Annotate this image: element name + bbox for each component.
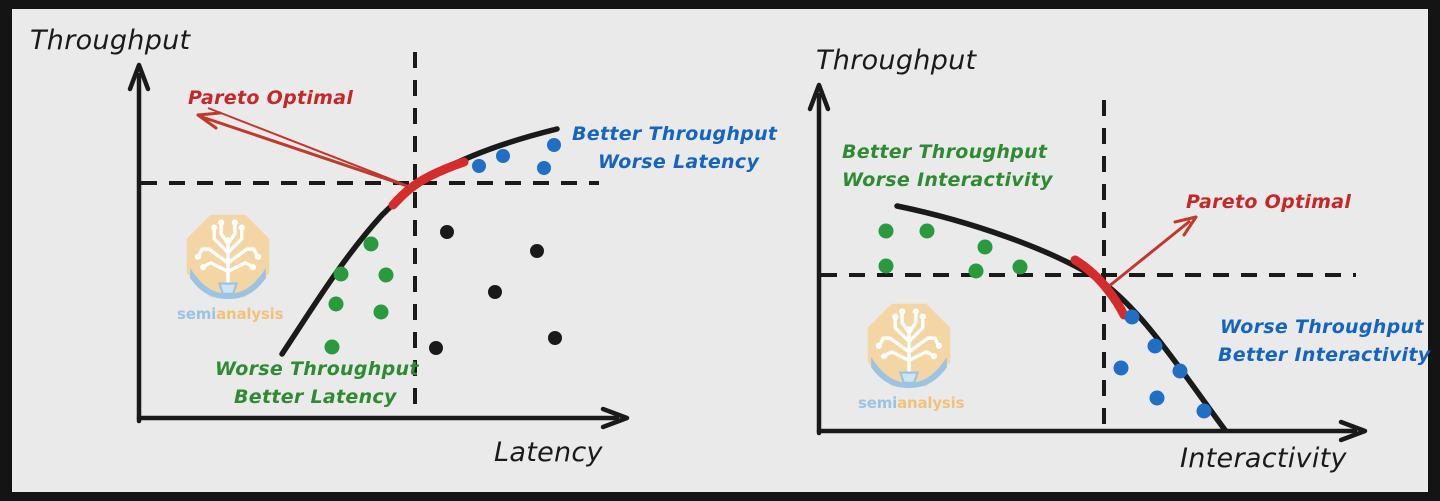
chart-svg-latency (12, 9, 720, 492)
data-point (547, 138, 561, 152)
logo-word-semi: semi (177, 305, 216, 323)
pareto-optimal-segment-interactivity (1075, 260, 1124, 315)
data-point (879, 224, 894, 239)
chart-panel-interactivity: Throughput Interactivity Pareto Optimal … (720, 9, 1428, 492)
data-point (1125, 310, 1140, 325)
data-point (496, 149, 510, 163)
annotation-better-throughput-worse-interactivity-line2: Worse Interactivity (842, 169, 1053, 191)
data-point (969, 264, 984, 279)
x-axis-label-interactivity: Interactivity (1180, 443, 1347, 475)
semianalysis-logo-left: semianalysis (177, 213, 281, 325)
data-point (879, 259, 894, 274)
data-point (379, 268, 394, 283)
y-axis-latency-chart (130, 65, 148, 421)
figure-canvas: Throughput Latency Pareto Optimal Better… (12, 9, 1428, 492)
semianalysis-logo-mark (866, 302, 952, 388)
y-axis-label-throughput-right: Throughput (816, 45, 976, 77)
annotation-worse-throughput-better-interactivity-line1: Worse Throughput (1220, 316, 1424, 338)
data-point (334, 267, 349, 282)
data-point (920, 224, 935, 239)
annotation-worse-throughput-better-interactivity-line2: Better Interactivity (1218, 344, 1430, 366)
logo-word-analysis: analysis (897, 394, 964, 412)
semianalysis-logo-mark (185, 213, 271, 299)
data-point (548, 331, 562, 345)
chart-svg-interactivity (720, 9, 1428, 492)
annotation-worse-throughput-better-latency-line1: Worse Throughput (215, 358, 419, 380)
logo-word-analysis: analysis (216, 305, 283, 323)
data-point (1173, 364, 1188, 379)
logo-word-semi: semi (858, 394, 897, 412)
data-point (325, 340, 340, 355)
data-point (374, 305, 389, 320)
x-axis-label-latency: Latency (494, 437, 603, 469)
data-point (488, 285, 502, 299)
chart-panel-latency: Throughput Latency Pareto Optimal Better… (12, 9, 720, 492)
scatter-series-green-interactivity (879, 224, 1028, 279)
data-point (530, 244, 544, 258)
semianalysis-wordmark: semianalysis (858, 394, 962, 412)
x-axis-latency-chart (139, 409, 627, 427)
annotation-worse-throughput-better-latency-line2: Better Latency (234, 386, 397, 408)
scatter-series-blue-latency (472, 138, 561, 175)
data-point (1114, 361, 1129, 376)
data-point (1150, 391, 1165, 406)
annotation-pareto-optimal-right: Pareto Optimal (1186, 191, 1351, 213)
data-point (1013, 260, 1028, 275)
scatter-series-green-latency (325, 237, 394, 355)
data-point (429, 341, 443, 355)
data-point (537, 161, 551, 175)
semianalysis-logo-right: semianalysis (858, 302, 962, 414)
scatter-series-black-latency (429, 225, 562, 355)
data-point (440, 225, 454, 239)
data-point (329, 297, 344, 312)
scatter-series-blue-interactivity (1114, 310, 1212, 419)
data-point (978, 240, 993, 255)
y-axis-label-throughput-left: Throughput (30, 25, 190, 57)
data-point (364, 237, 379, 252)
semianalysis-wordmark: semianalysis (177, 305, 281, 323)
annotation-pareto-optimal-left: Pareto Optimal (188, 87, 353, 109)
pareto-annotation-arrow-latency (198, 108, 416, 189)
pareto-annotation-arrow-interactivity (1103, 217, 1196, 291)
pareto-frontier-curve-latency (282, 129, 557, 354)
data-point (1148, 339, 1163, 354)
data-point (1197, 404, 1212, 419)
annotation-better-throughput-worse-interactivity-line1: Better Throughput (842, 141, 1047, 163)
x-axis-interactivity-chart (819, 422, 1365, 440)
data-point (472, 159, 486, 173)
figure-frame: Throughput Latency Pareto Optimal Better… (0, 0, 1440, 501)
y-axis-interactivity-chart (810, 85, 828, 433)
